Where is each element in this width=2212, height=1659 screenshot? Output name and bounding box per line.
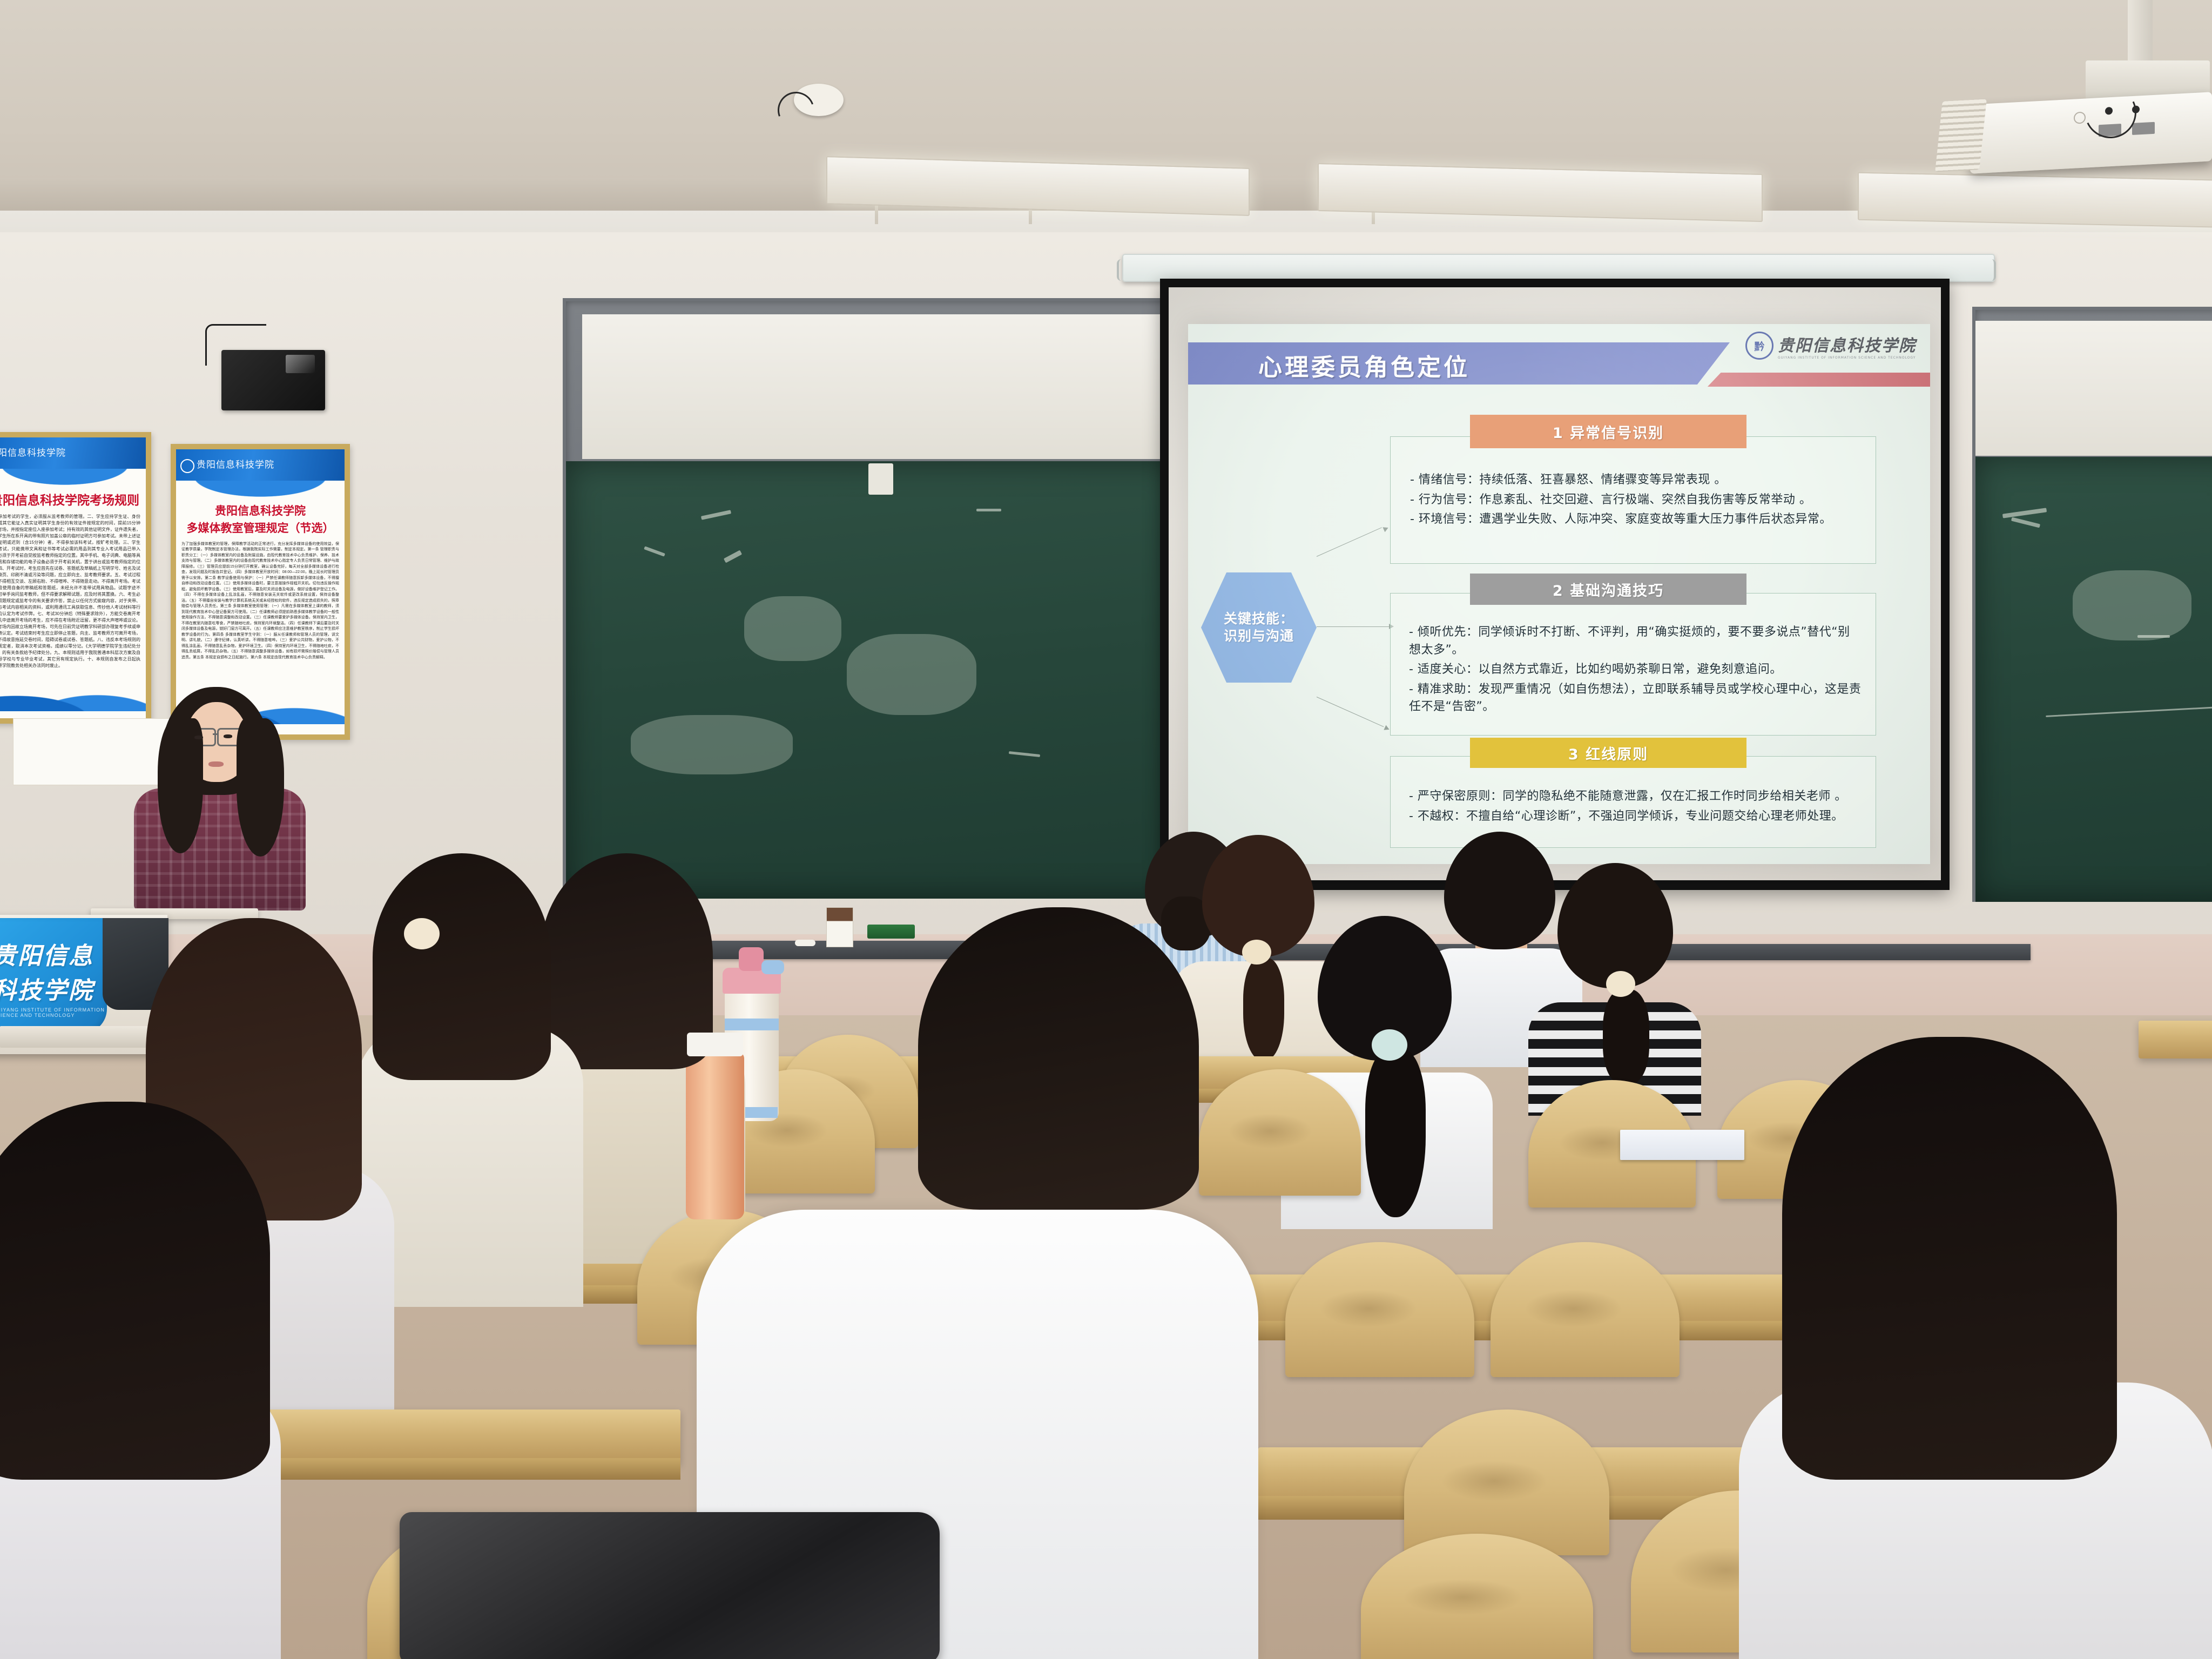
desk-row <box>2139 1021 2212 1058</box>
poster-body-text: 为了加强多媒体教室的管理，保障教学活动的正常进行，充分发挥多媒体设备的使用效益，… <box>176 541 345 690</box>
hex-line-2: 识别与沟通 <box>1224 628 1294 644</box>
connector-line-1 <box>1317 527 1382 557</box>
connector-arrow-1 <box>1382 525 1389 532</box>
poster-exam-rules: 贵阳信息科技学院 贵阳信息科技学院考场规则 一、参加考试的学生，必须服从监考教师… <box>0 432 151 724</box>
poster-footer-wave <box>0 677 146 711</box>
leather-bag <box>400 1512 940 1659</box>
presentation-slide: 心理委员角色定位 黔 贵阳信息科技学院 GUIYANG INSTITUTE OF… <box>1188 324 1930 864</box>
poster-seal-icon <box>180 459 194 473</box>
presenter-hair-side <box>237 718 284 857</box>
section-2-header: 2 基础沟通技巧 <box>1470 574 1746 605</box>
student-head <box>373 853 551 1080</box>
podium-name-en: GUIYANG INSTITUTE OF INFORMATION SCIENCE… <box>0 1007 107 1018</box>
eraser-box-icon <box>826 907 853 947</box>
presenter-eye <box>224 734 232 738</box>
podium-base <box>0 1026 151 1048</box>
presenter-eye <box>194 736 203 739</box>
section-3-body: - 严守保密原则：同学的隐私绝不能随意泄露，仅在汇报工作时同步给相关老师 。 -… <box>1390 756 1876 848</box>
wall-speaker <box>221 350 325 410</box>
thermos-cap-icon <box>739 947 764 971</box>
chalk-stick-icon <box>795 940 815 946</box>
slide-institution-logo: 黔 贵阳信息科技学院 GUIYANG INSTITUTE OF INFORMAT… <box>1745 332 1916 360</box>
wall-small-notice <box>13 718 183 785</box>
section-3-bullet: - 严守保密原则：同学的隐私绝不能随意泄露，仅在汇报工作时同步给相关老师 。 <box>1409 788 1862 806</box>
key-skill-hexagon: 关键技能： 识别与沟通 <box>1201 572 1317 683</box>
blackboard-right <box>1972 307 2212 902</box>
poster-arc <box>0 469 146 490</box>
connector-arrow-3 <box>1384 725 1390 732</box>
hair-scrunchie <box>1372 1029 1407 1061</box>
blackboard-white-strip <box>582 314 1177 459</box>
student-ponytail <box>1603 989 1649 1084</box>
connector-line-2 <box>1317 626 1392 627</box>
hair-scrunchie <box>1242 940 1271 965</box>
section-2-bullet: - 倾听优先：同学倾诉时不打断、不评判，用“确实挺烦的，要不要多说点”替代“别想… <box>1409 624 1862 659</box>
section-2-bullet: - 精准求助：发现严重情况（如自伤想法），立即联系辅导员或学校心理中心，这是责任… <box>1409 681 1862 716</box>
hair-scrunchie <box>404 918 440 949</box>
student-head <box>918 907 1199 1210</box>
institution-name-cn: 贵阳信息科技学院 <box>1778 332 1916 356</box>
section-1-bullet: - 情绪信号：持续低落、狂喜暴怒、情绪骤变等异常表现 。 <box>1410 471 1859 489</box>
projector-pole <box>2128 0 2153 65</box>
slide-title: 心理委员角色定位 <box>1258 348 1470 382</box>
blackboard-white-strip <box>1975 321 2212 456</box>
section-3-header: 3 红线原则 <box>1470 738 1746 768</box>
tea-bottle <box>686 1052 744 1219</box>
slide-accent-band <box>1708 373 1930 387</box>
poster-header-band: 贵阳信息科技学院 <box>176 449 345 481</box>
screen-roller <box>1122 254 1995 282</box>
podium-branding-panel: 贵阳信息科技学院 GUIYANG INSTITUTE OF INFORMATIO… <box>0 918 107 1034</box>
projector-power-button[interactable] <box>2074 112 2086 124</box>
poster-body-text: 一、参加考试的学生，必须服从监考教师的管理。二、学生应持学生证、身份证，或其它能… <box>0 512 146 677</box>
presenter-mouth <box>208 761 224 767</box>
eyeglasses-bridge-icon <box>213 733 217 735</box>
ceiling-light-panel <box>1858 172 2212 228</box>
section-2-bullet: - 适度关心：以自然方式靠近，比如约喝奶茶聊日常，避免刻意追问。 <box>1409 661 1862 679</box>
section-1-bullet: - 行为信号：作息紊乱、社交回避、言行极端、突然自我伤害等反常举动 。 <box>1410 491 1859 509</box>
section-1-body: - 情绪信号：持续低落、狂喜暴怒、情绪骤变等异常表现 。 - 行为信号：作息紊乱… <box>1390 436 1876 564</box>
blackboard-left <box>563 298 1181 899</box>
thermos-band <box>725 1019 779 1030</box>
chalkboard-surface <box>1975 457 2212 902</box>
thermos-handle-icon <box>761 960 784 974</box>
projector-vga-port <box>2132 122 2155 135</box>
student-ponytail <box>1365 1050 1426 1217</box>
poster-arc <box>176 481 345 502</box>
section-1-header: 1 异常信号识别 <box>1470 415 1746 448</box>
student-head <box>1782 1037 2117 1480</box>
section-2-body: - 倾听优先：同学倾诉时不打断、不评判，用“确实挺烦的，要不要多说点”替代“别想… <box>1390 593 1876 736</box>
section-3-bullet: - 不越权：不擅自给“心理诊断”，不强迫同学倾诉，专业问题交给心理老师处理。 <box>1409 808 1862 826</box>
classroom-photo: 贵阳信息科技学院 贵阳信息科技学院考场规则 一、参加考试的学生，必须服从监考教师… <box>0 0 2212 1659</box>
screen-bracket <box>1986 259 1996 281</box>
notebook <box>1620 1130 1744 1160</box>
poster-logo-text: 贵阳信息科技学院 <box>197 457 274 470</box>
magnet-clip <box>868 463 893 495</box>
poster-title: 贵阳信息科技学院考场规则 <box>0 490 146 512</box>
institution-seal-icon: 黔 <box>1745 332 1773 360</box>
hex-line-1: 关键技能： <box>1224 611 1294 626</box>
section-1-bullet: - 环境信号：遭遇学业失败、人际冲突、家庭变故等重大压力事件后状态异常。 <box>1410 511 1859 529</box>
student-ponytail <box>1243 958 1284 1061</box>
poster-header-band: 贵阳信息科技学院 <box>0 437 146 469</box>
poster-title-line2: 多媒体教室管理规定（节选） <box>176 520 345 540</box>
green-eraser-icon <box>867 925 915 939</box>
screen-bracket <box>1117 259 1127 281</box>
bottle-cap-icon <box>687 1033 743 1056</box>
connector-line-3 <box>1317 697 1384 727</box>
institution-name-en: GUIYANG INSTITUTE OF INFORMATION SCIENCE… <box>1778 356 1916 360</box>
student-head <box>0 1102 270 1480</box>
hair-scrunchie <box>1606 971 1635 997</box>
chalkboard-surface <box>566 461 1181 899</box>
podium-name-cn: 贵阳信息科技学院 <box>0 936 107 1006</box>
poster-logo-text: 贵阳信息科技学院 <box>0 445 66 458</box>
projector-vent <box>1935 99 1987 172</box>
